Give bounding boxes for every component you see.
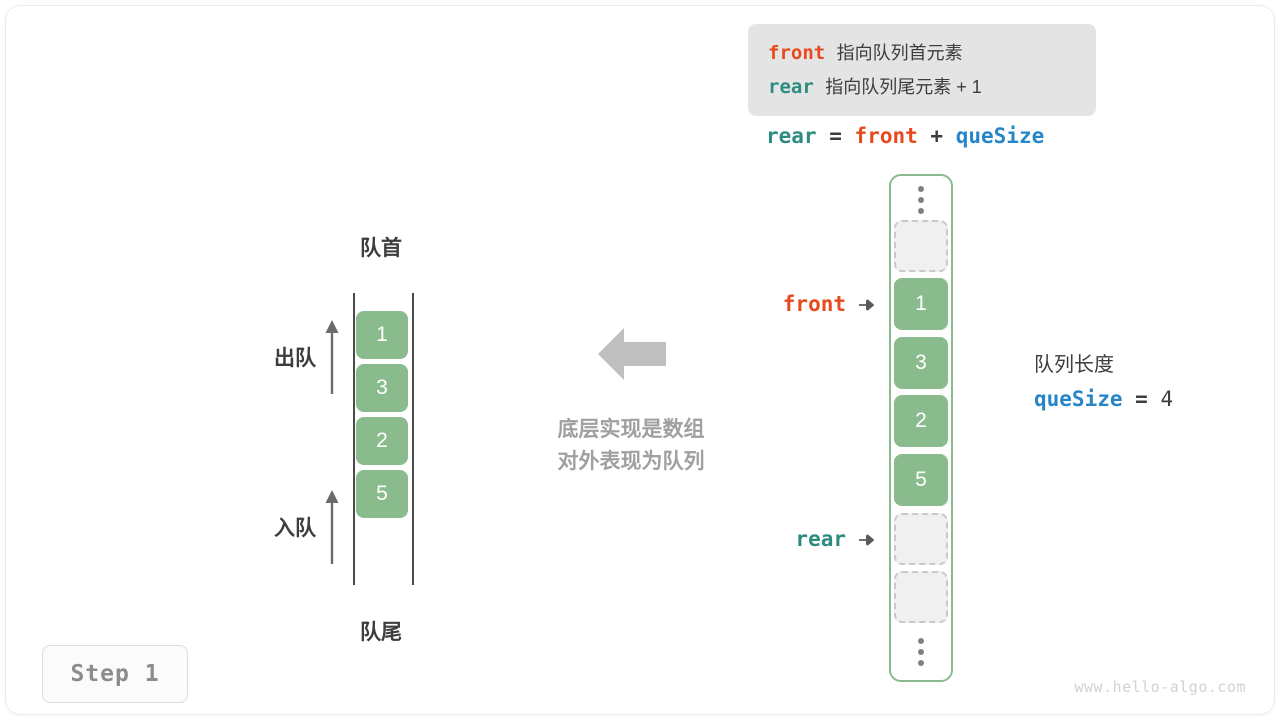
array-slot-empty <box>894 513 948 565</box>
front-pointer-arrow-icon <box>858 298 874 312</box>
legend-desc-front: 指向队列首元素 <box>837 43 963 63</box>
queue-size-expression: queSize = 4 <box>1034 382 1173 416</box>
queue-head-label: 队首 <box>316 232 446 262</box>
legend-line-front: front 指向队列首元素 <box>768 36 1096 70</box>
arrow-left-icon <box>596 324 668 384</box>
queue-tail-label: 队尾 <box>316 616 446 646</box>
rear-pointer-arrow-icon <box>858 533 874 547</box>
queue-rail-left <box>353 293 355 585</box>
quesize-value: 4 <box>1160 387 1173 411</box>
legend-box: front 指向队列首元素 rear 指向队列尾元素 + 1 <box>748 24 1096 116</box>
queue-size-cn-label: 队列长度 <box>1034 348 1173 382</box>
queue-cell: 3 <box>356 364 408 412</box>
center-note-line2: 对外表现为队列 <box>516 446 746 478</box>
quesize-var: queSize <box>1034 387 1123 411</box>
queue-cell: 1 <box>356 311 408 359</box>
legend-desc-rear: 指向队列尾元素 + 1 <box>825 77 982 97</box>
formula-plus: + <box>930 124 943 148</box>
queue-cell: 5 <box>356 470 408 518</box>
quesize-equals: = <box>1135 387 1148 411</box>
ellipsis-top-icon <box>914 186 928 214</box>
queue-rail-right <box>412 293 414 585</box>
array-slot-filled: 2 <box>894 395 948 447</box>
enqueue-arrow-up-icon <box>324 488 340 564</box>
array-slot-empty <box>894 571 948 623</box>
legend-keyword-front: front <box>768 42 825 64</box>
ellipsis-bottom-icon <box>914 638 928 666</box>
array-slot-filled: 5 <box>894 454 948 506</box>
center-note: 底层实现是数组 对外表现为队列 <box>516 414 746 478</box>
formula-equals: = <box>829 124 842 148</box>
dequeue-label: 出队 <box>256 342 316 372</box>
front-pointer-label: front <box>696 292 846 316</box>
dequeue-arrow-up-icon <box>324 318 340 394</box>
formula-rear-equals-front-plus-quesize: rear = front + queSize <box>766 124 1044 148</box>
watermark: www.hello-algo.com <box>1074 678 1246 696</box>
diagram-canvas: front 指向队列首元素 rear 指向队列尾元素 + 1 rear = fr… <box>6 6 1274 714</box>
queue-size-note: 队列长度 queSize = 4 <box>1034 348 1173 416</box>
legend-keyword-rear: rear <box>768 76 814 98</box>
center-note-line1: 底层实现是数组 <box>516 414 746 446</box>
rear-pointer-label: rear <box>696 527 846 551</box>
queue-cell: 2 <box>356 417 408 465</box>
enqueue-label: 入队 <box>256 512 316 542</box>
array-slot-empty <box>894 220 948 272</box>
formula-lhs: rear <box>766 124 817 148</box>
step-badge: Step 1 <box>42 645 188 703</box>
formula-rhs-quesize: queSize <box>956 124 1045 148</box>
legend-line-rear: rear 指向队列尾元素 + 1 <box>768 70 1096 104</box>
formula-rhs-front: front <box>855 124 918 148</box>
array-slot-filled: 3 <box>894 337 948 389</box>
array-slot-filled: 1 <box>894 278 948 330</box>
